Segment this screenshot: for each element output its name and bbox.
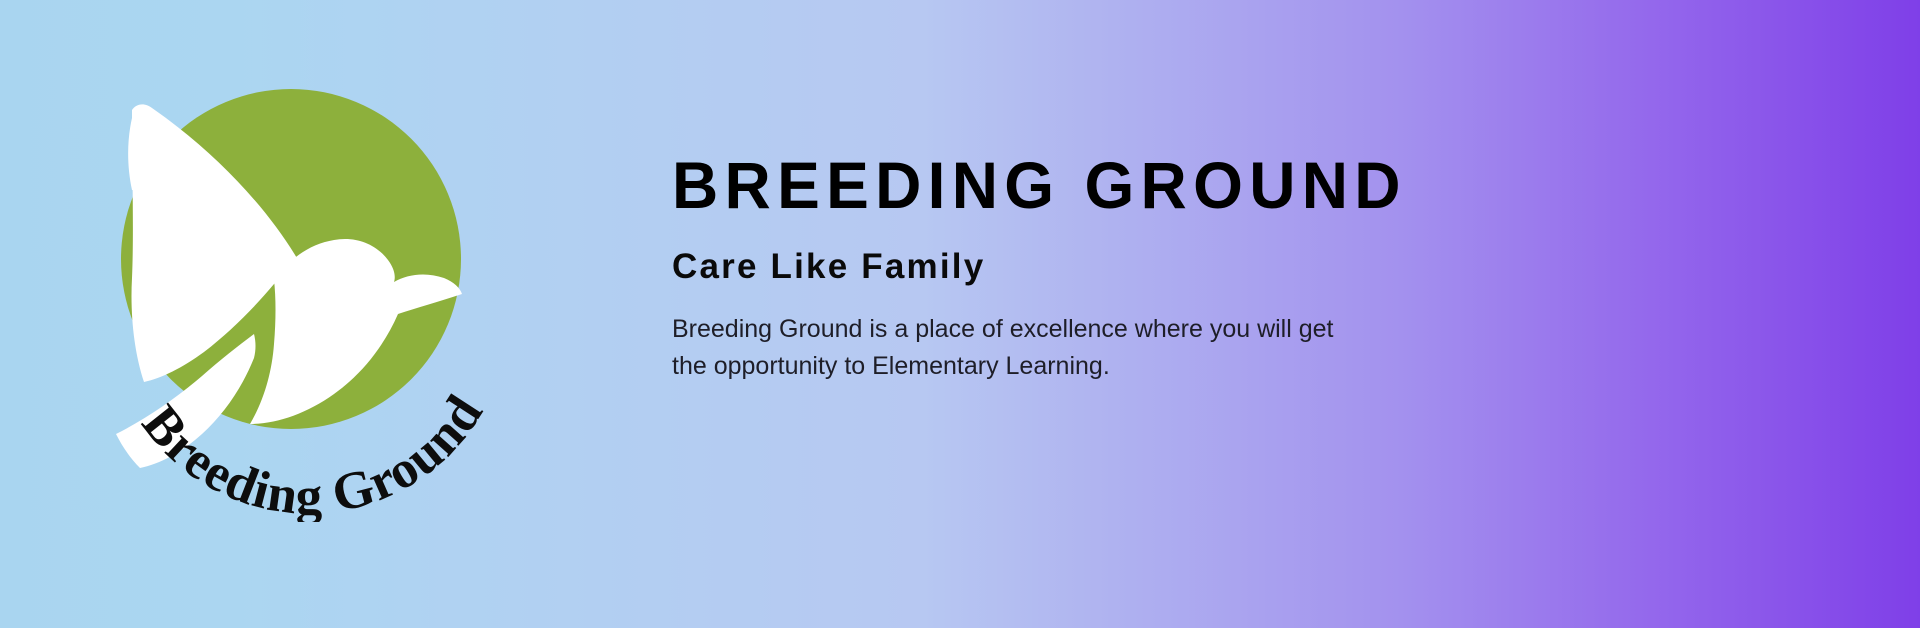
brand-logo[interactable]: Breeding Ground — [78, 52, 548, 522]
banner-headline: BREEDING GROUND — [672, 152, 1817, 219]
banner-tagline: Care Like Family — [672, 247, 1852, 287]
banner-copy-block: BREEDING GROUND Care Like Family Breedin… — [672, 152, 1852, 385]
banner-description: Breeding Ground is a place of excellence… — [672, 311, 1372, 385]
promotional-banner: Breeding Ground BREEDING GROUND Care Lik… — [0, 0, 1920, 628]
logo-svg: Breeding Ground — [78, 52, 548, 522]
